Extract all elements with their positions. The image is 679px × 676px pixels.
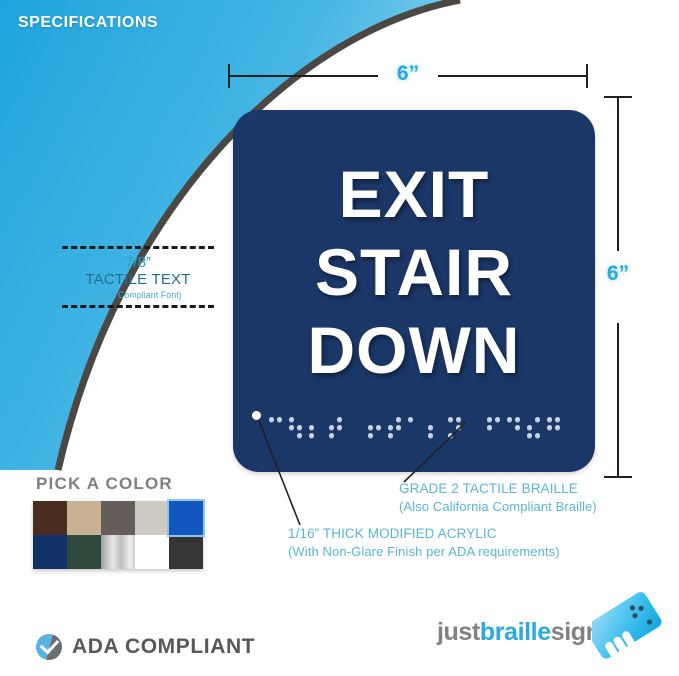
tactile-subtitle: (ADA Compliant Font) — [62, 290, 214, 301]
color-swatch-brushed-silver[interactable] — [101, 535, 135, 569]
braille-dot — [416, 425, 421, 430]
braille-cell — [428, 417, 441, 438]
ada-sign: EXIT STAIR DOWN — [233, 110, 595, 472]
sign-line-2: STAIR — [233, 234, 595, 312]
tactile-title: TACTILE TEXT — [62, 271, 214, 289]
braille-cell — [448, 417, 461, 438]
braille-dot — [396, 425, 401, 430]
color-swatch-tan[interactable] — [67, 501, 101, 535]
braille-dot — [527, 417, 532, 422]
braille-dot — [487, 417, 492, 422]
braille-dot — [297, 417, 302, 422]
color-swatch-taupe-gray[interactable] — [101, 501, 135, 535]
dashed-line-bottom — [62, 305, 214, 308]
braille-dot — [337, 433, 342, 438]
braille-dot — [487, 425, 492, 430]
braille-dot — [495, 417, 500, 422]
braille-dot — [277, 425, 282, 430]
specification-sheet: SPECIFICATIONS 6” 6” EXIT STAIR DOWN 7/8… — [0, 0, 679, 676]
braille-dot — [436, 425, 441, 430]
braille-cell — [289, 417, 302, 438]
braille-dot — [408, 433, 413, 438]
check-circle-icon — [36, 634, 62, 660]
acrylic-callout-pin — [252, 411, 261, 420]
color-swatch-charcoal[interactable] — [169, 535, 203, 569]
braille-dot — [277, 417, 282, 422]
dimension-top: 6” — [228, 62, 588, 90]
braille-row — [233, 417, 595, 438]
braille-cell — [329, 417, 342, 438]
braille-dot — [515, 417, 520, 422]
color-swatch-dark-brown[interactable] — [33, 501, 67, 535]
braille-dot — [527, 425, 532, 430]
braille-dot — [507, 425, 512, 430]
braille-dot — [277, 433, 282, 438]
tactile-text-annotation: 7/8” TACTILE TEXT (ADA Compliant Font) — [62, 246, 214, 308]
braille-cell — [507, 417, 520, 438]
braille-dot — [388, 433, 393, 438]
braille-hand-logo-icon — [592, 586, 666, 660]
braille-dot — [368, 425, 373, 430]
braille-dot — [535, 417, 540, 422]
braille-dot — [408, 417, 413, 422]
braille-dot — [428, 425, 433, 430]
braille-dot — [515, 425, 520, 430]
braille-dot — [297, 425, 302, 430]
braille-word — [368, 417, 461, 438]
color-swatch-blue[interactable] — [169, 501, 203, 535]
braille-dot — [555, 417, 560, 422]
dimension-right: 6” — [600, 96, 636, 478]
braille-dot — [416, 433, 421, 438]
color-swatch-white[interactable] — [135, 535, 169, 569]
braille-dot — [329, 417, 334, 422]
braille-dot — [507, 417, 512, 422]
braille-word — [269, 417, 342, 438]
braille-dot — [487, 433, 492, 438]
callout-acrylic: 1/16” THICK MODIFIED ACRYLIC (With Non-G… — [288, 525, 560, 560]
braille-cell — [547, 417, 560, 438]
braille-dot — [396, 433, 401, 438]
braille-dot — [535, 425, 540, 430]
braille-dot — [289, 425, 294, 430]
braille-dot — [448, 425, 453, 430]
braille-dot — [547, 417, 552, 422]
braille-dot — [436, 433, 441, 438]
braille-dot — [376, 433, 381, 438]
braille-dot — [428, 417, 433, 422]
braille-dot — [436, 417, 441, 422]
braille-dot — [535, 433, 540, 438]
braille-dot — [269, 425, 274, 430]
callout-braille-line2: (Also California Compliant Braille) — [399, 498, 597, 515]
color-swatch-light-gray[interactable] — [135, 501, 169, 535]
braille-dot — [269, 433, 274, 438]
brand-part-just: just — [437, 618, 480, 647]
callout-acrylic-line2: (With Non-Glare Finish per ADA requireme… — [288, 543, 560, 560]
braille-dot — [329, 425, 334, 430]
color-swatch-dark-green[interactable] — [67, 535, 101, 569]
braille-dot — [555, 433, 560, 438]
sign-text-block: EXIT STAIR DOWN — [233, 156, 595, 390]
sign-line-3: DOWN — [233, 312, 595, 390]
braille-dot — [309, 425, 314, 430]
dimension-top-label: 6” — [228, 62, 588, 86]
dimension-right-label: 6” — [600, 262, 636, 286]
sign-line-1: EXIT — [233, 156, 595, 234]
braille-dot — [317, 433, 322, 438]
braille-dot — [448, 433, 453, 438]
braille-dot — [495, 425, 500, 430]
braille-cell — [269, 417, 282, 438]
color-swatch-grid[interactable] — [33, 501, 203, 569]
braille-dot — [456, 433, 461, 438]
braille-cell — [487, 417, 500, 438]
braille-cell — [527, 417, 540, 438]
ada-compliant-label: ADA COMPLIANT — [72, 635, 255, 659]
braille-dot — [376, 417, 381, 422]
page-title: SPECIFICATIONS — [18, 14, 158, 32]
braille-dot — [547, 425, 552, 430]
braille-dot — [456, 417, 461, 422]
tactile-size: 7/8” — [62, 254, 214, 271]
braille-cell — [388, 417, 401, 438]
braille-dot — [408, 425, 413, 430]
braille-dot — [555, 425, 560, 430]
pick-a-color-title: PICK A COLOR — [36, 474, 173, 494]
braille-dot — [527, 433, 532, 438]
dim-tick-bottom — [604, 476, 632, 478]
color-swatch-navy[interactable] — [33, 535, 67, 569]
braille-dot — [269, 417, 274, 422]
braille-dot — [448, 417, 453, 422]
braille-dot — [547, 433, 552, 438]
braille-dot — [507, 433, 512, 438]
braille-dot — [515, 433, 520, 438]
braille-dot — [297, 433, 302, 438]
braille-dot — [428, 433, 433, 438]
braille-dot — [456, 425, 461, 430]
braille-dot — [416, 417, 421, 422]
callout-braille-line1: GRADE 2 TACTILE BRAILLE — [399, 480, 597, 498]
braille-dot — [309, 417, 314, 422]
braille-dot — [309, 433, 314, 438]
brand-part-braille: braille — [480, 618, 551, 647]
braille-dot — [337, 417, 342, 422]
braille-dot — [368, 433, 373, 438]
braille-cell — [408, 417, 421, 438]
ada-compliant-badge-group: ADA COMPLIANT — [36, 634, 255, 660]
brand-wordmark: just braille signs — [437, 618, 614, 647]
braille-dot — [495, 433, 500, 438]
braille-cell — [368, 417, 381, 438]
braille-dot — [337, 425, 342, 430]
braille-dot — [289, 417, 294, 422]
braille-dot — [388, 425, 393, 430]
braille-dot — [317, 425, 322, 430]
braille-word — [487, 417, 560, 438]
callout-braille: GRADE 2 TACTILE BRAILLE (Also California… — [399, 480, 597, 515]
braille-dot — [317, 417, 322, 422]
braille-dot — [368, 417, 373, 422]
braille-dot — [376, 425, 381, 430]
dim-bar-bottom — [617, 323, 619, 478]
braille-dot — [396, 417, 401, 422]
braille-dot — [289, 433, 294, 438]
dim-bar-top — [617, 96, 619, 251]
braille-dot — [329, 433, 334, 438]
callout-acrylic-line1: 1/16” THICK MODIFIED ACRYLIC — [288, 525, 560, 543]
braille-dot — [388, 417, 393, 422]
braille-cell — [309, 417, 322, 438]
